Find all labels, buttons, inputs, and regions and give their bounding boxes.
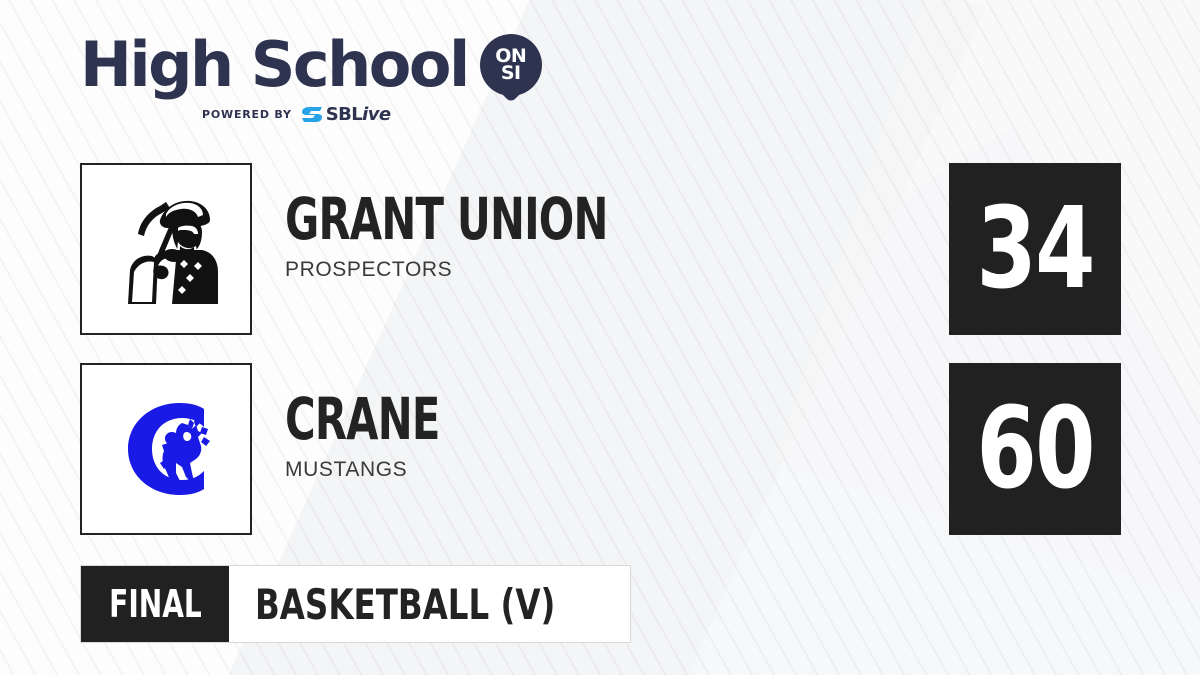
- powered-by-row: POWERED BY SBLive: [202, 104, 542, 125]
- team-score: 34: [976, 193, 1093, 305]
- team-mascot: MUSTANGS: [285, 458, 478, 482]
- team-score-box: 60: [949, 363, 1121, 535]
- brand-header: High School ON SI POWERED BY SBLive: [80, 34, 542, 125]
- game-status-bar: FINAL BASKETBALL (V): [80, 565, 631, 643]
- powered-by-label: POWERED BY: [202, 108, 292, 121]
- sport-label-box: BASKETBALL (V): [229, 566, 630, 642]
- pin-text-line2: SI: [501, 65, 521, 82]
- sblive-word-main: SBL: [326, 104, 362, 125]
- brand-wordmark: High School: [80, 36, 468, 95]
- team-info: CRANE MUSTANGS: [285, 393, 478, 482]
- sport-label: BASKETBALL (V): [255, 580, 555, 629]
- team-info: GRANT UNION PROSPECTORS: [285, 193, 688, 282]
- brand-logo: High School ON SI: [80, 34, 542, 96]
- team-logo-box: [80, 363, 252, 535]
- team-score-box: 34: [949, 163, 1121, 335]
- sblive-s-mark-icon: [301, 106, 323, 123]
- team-mascot: PROSPECTORS: [285, 258, 688, 282]
- on-si-pin-icon: ON SI: [480, 34, 542, 96]
- sblive-wordmark: SBLive: [326, 104, 391, 125]
- crane-c-mustang-logo-icon: [106, 389, 226, 509]
- team-name: CRANE: [285, 393, 440, 446]
- team-score: 60: [976, 393, 1093, 505]
- team-logo-box: [80, 163, 252, 335]
- sblive-word-italic: ive: [362, 104, 390, 125]
- prospector-miner-logo-icon: [110, 190, 222, 308]
- scoreboard-graphic: High School ON SI POWERED BY SBLive: [0, 0, 1200, 675]
- game-state-badge: FINAL: [81, 566, 229, 642]
- team-name: GRANT UNION: [285, 193, 608, 246]
- sblive-logo: SBLive: [301, 104, 391, 125]
- game-state-label: FINAL: [109, 582, 202, 626]
